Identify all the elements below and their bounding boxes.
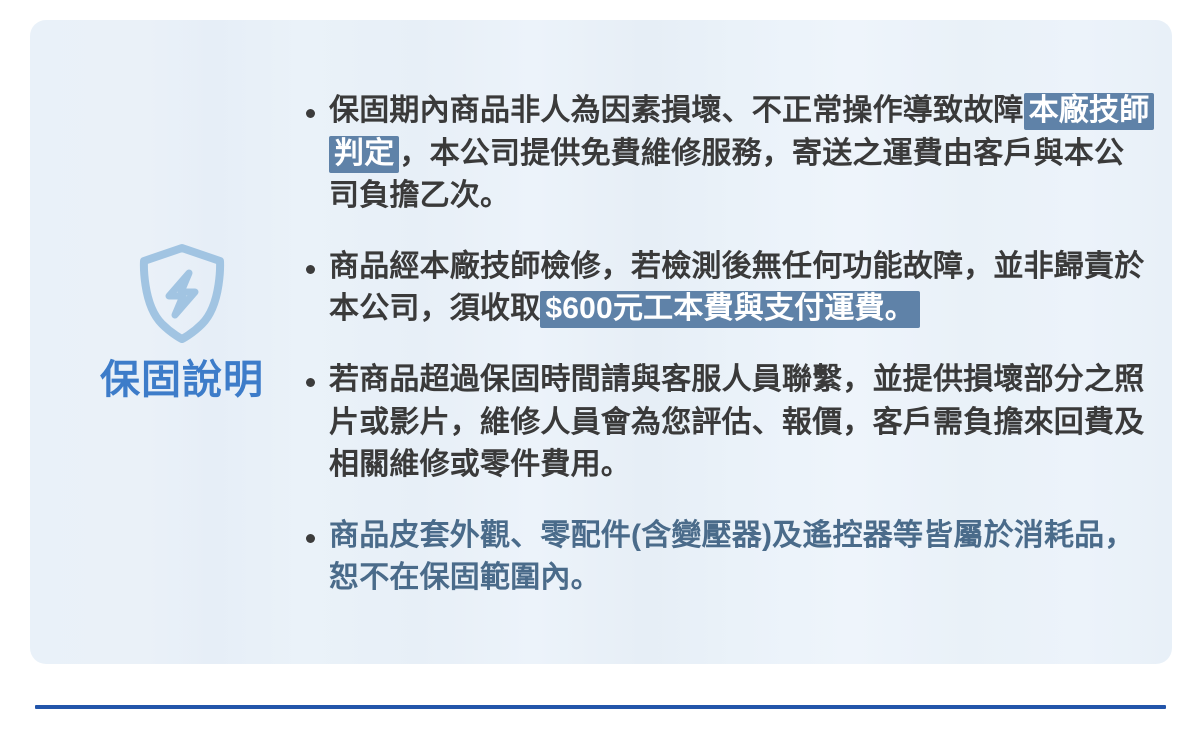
bottom-divider <box>35 705 1166 709</box>
bullet-text-4: 商品皮套外觀、零配件(含變壓器)及遙控器等皆屬於消耗品，恕不在保固範圍內。 <box>329 515 1152 600</box>
bullet-1-part-1: 保固期內商品非人為因素損壞、不正常操作導致故障 <box>329 94 1024 127</box>
bullet-4-part-1: 商品皮套外觀、零配件(含變壓器)及遙控器等皆屬於消耗品，恕不在保固範圍內。 <box>329 519 1135 595</box>
warranty-card: 保固說明 保固期內商品非人為因素損壞、不正常操作導致故障本廠技師判定，本公司提供… <box>30 20 1172 664</box>
warranty-card-inner: 保固說明 保固期內商品非人為因素損壞、不正常操作導致故障本廠技師判定，本公司提供… <box>30 20 1172 664</box>
bullet-dot-icon <box>306 534 315 543</box>
warranty-terms-list: 保固期內商品非人為因素損壞、不正常操作導致故障本廠技師判定，本公司提供免費維修服… <box>306 90 1152 600</box>
bullet-dot-icon <box>306 265 315 274</box>
list-item: 商品經本廠技師檢修，若檢測後無任何功能故障，並非歸責於本公司，須收取$600元工… <box>306 246 1152 331</box>
list-item: 保固期內商品非人為因素損壞、不正常操作導致故障本廠技師判定，本公司提供免費維修服… <box>306 90 1152 218</box>
bullet-text-1: 保固期內商品非人為因素損壞、不正常操作導致故障本廠技師判定，本公司提供免費維修服… <box>329 90 1152 218</box>
bullet-dot-icon <box>306 378 315 387</box>
list-item: 商品皮套外觀、零配件(含變壓器)及遙控器等皆屬於消耗品，恕不在保固範圍內。 <box>306 515 1152 600</box>
warranty-label-column: 保固說明 <box>58 242 306 400</box>
bullet-2-highlight: $600元工本費與支付運費。 <box>540 291 920 328</box>
list-item: 若商品超過保固時間請與客服人員聯繫，並提供損壞部分之照片或影片，維修人員會為您評… <box>306 359 1152 487</box>
bullet-text-3: 若商品超過保固時間請與客服人員聯繫，並提供損壞部分之照片或影片，維修人員會為您評… <box>329 359 1152 487</box>
bullet-text-2: 商品經本廠技師檢修，若檢測後無任何功能故障，並非歸責於本公司，須收取$600元工… <box>329 246 1152 331</box>
bullet-dot-icon <box>306 109 315 118</box>
warranty-info-page: 保固說明 保固期內商品非人為因素損壞、不正常操作導致故障本廠技師判定，本公司提供… <box>0 0 1200 734</box>
bullet-1-part-2: ，本公司提供免費維修服務，寄送之運費由客戶與本公司負擔乙次。 <box>329 137 1124 213</box>
shield-bolt-icon <box>134 242 230 346</box>
bullet-3-part-1: 若商品超過保固時間請與客服人員聯繫，並提供損壞部分之照片或影片，維修人員會為您評… <box>329 363 1144 481</box>
section-title: 保固說明 <box>100 360 264 400</box>
